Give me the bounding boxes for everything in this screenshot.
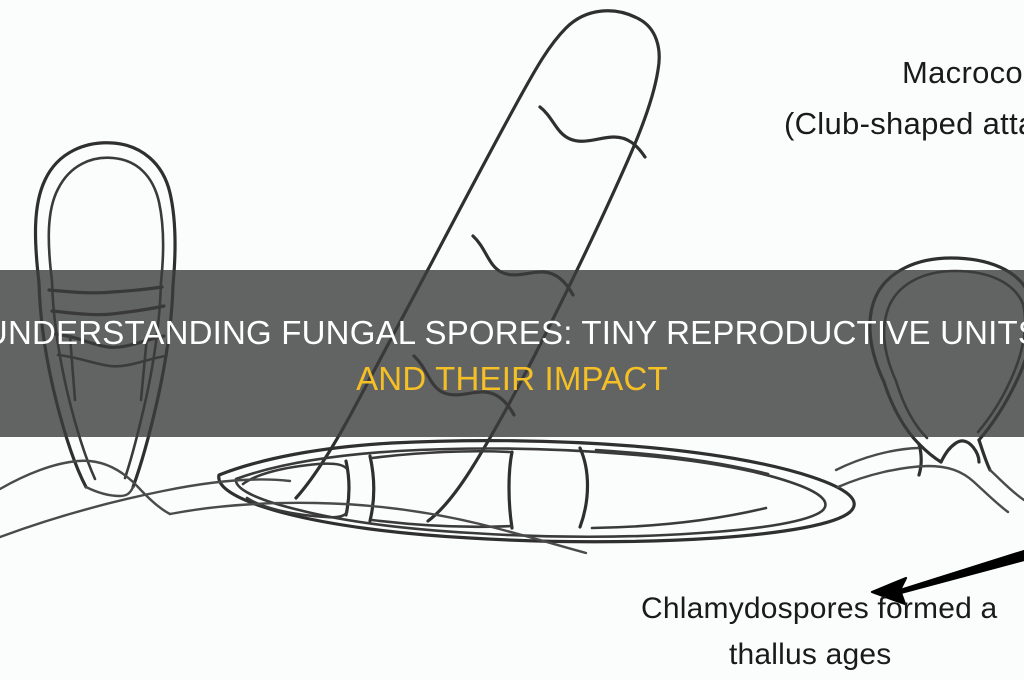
title-overlay-banner: UNDERSTANDING FUNGAL SPORES: TINY REPROD… — [0, 270, 1024, 437]
horizontal-macroconidium — [219, 441, 854, 542]
page-title-line-2: AND THEIR IMPACT — [356, 356, 668, 402]
label-chlamydospores-line-1: Chlamydospores formed a — [641, 592, 997, 626]
hyphal-thallus-strands — [0, 448, 1024, 553]
label-macroconidia: Macroco — [902, 55, 1023, 91]
label-club-shaped-attachment: (Club-shaped atta — [784, 106, 1024, 142]
label-chlamydospores-line-2: thallus ages — [729, 638, 892, 672]
screenshot-canvas: .ink { fill: none; stroke: #2f2f2f; stro… — [0, 0, 1024, 680]
page-title-line-1: UNDERSTANDING FUNGAL SPORES: TINY REPROD… — [0, 310, 1024, 356]
